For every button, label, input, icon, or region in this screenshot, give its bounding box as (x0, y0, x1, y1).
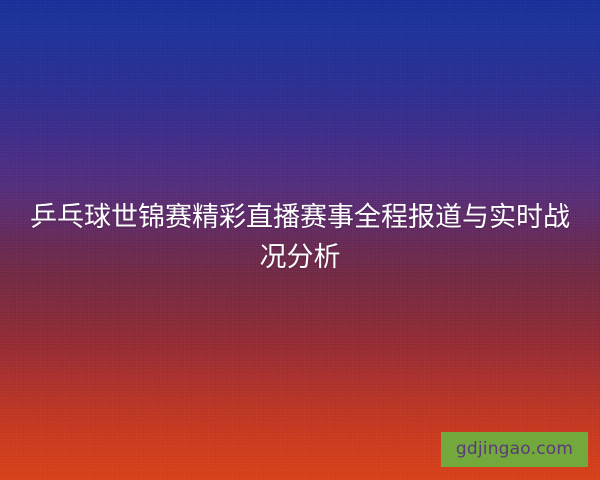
banner-canvas: 乒乓球世锦赛精彩直播赛事全程报道与实时战况分析 gdjingao.com (0, 0, 600, 480)
watermark-text: gdjingao.com (456, 441, 573, 458)
watermark-badge[interactable]: gdjingao.com (441, 432, 588, 467)
banner-title: 乒乓球世锦赛精彩直播赛事全程报道与实时战况分析 (0, 198, 600, 278)
